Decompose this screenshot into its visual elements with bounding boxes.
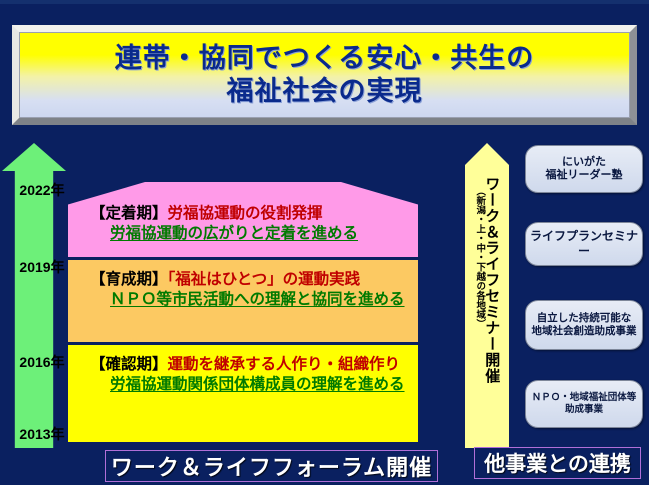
stage-headline-row-ikuseiki: 【育成期】「福祉はひとつ」の運動実践 <box>68 270 418 290</box>
stage-phase-label-kakuninki: 【確認期】 <box>90 356 168 373</box>
stage-headline-ikuseiki: 「福祉はひとつ」の運動実践 <box>168 271 361 288</box>
timeline-year-2022: 2022年 <box>14 180 70 200</box>
program-box-2-line-1: ライフプランセミナー <box>526 229 642 258</box>
stage-detail-teichakuki: 労福協運動の広がりと定着を進める <box>110 225 358 242</box>
title-panel: 連帯・協同でつくる安心・共生の 福祉社会の実現 <box>19 32 630 118</box>
program-box-niigata-fukushi-leader[interactable]: にいがた 福祉リーダー塾 <box>525 145 643 193</box>
timeline-year-2016: 2016年 <box>14 352 70 372</box>
slide-canvas: 連帯・協同でつくる安心・共生の 福祉社会の実現 2022年 2019年 2016… <box>0 0 649 485</box>
top-edge-bar <box>0 0 649 4</box>
stage-detail-kakuninki: 労福協運動関係団体構成員の理解を進める <box>110 376 405 393</box>
page-title: 連帯・協同でつくる安心・共生の 福祉社会の実現 <box>115 42 534 108</box>
stage-detail-row-ikuseiki: ＮＰＯ等市民活動への理解と協同を進める <box>68 290 418 310</box>
timeline-year-2019: 2019年 <box>14 257 70 277</box>
stage-band-text-ikuseiki: 【育成期】「福祉はひとつ」の運動実践 ＮＰＯ等市民活動への理解と協同を進める <box>68 260 418 310</box>
program-box-4-line-1: ＮＰＯ・地域福祉団体等 <box>532 392 637 404</box>
program-box-4-text: ＮＰＯ・地域福祉団体等 助成事業 <box>532 392 637 415</box>
stage-band-text-kakuninki: 【確認期】運動を継承する人作り・組織作り 労福協運動関係団体構成員の理解を進める <box>68 345 418 395</box>
stage-band-teichakuki: 【定着期】労福協運動の役割発揮 労福協運動の広がりと定着を進める <box>68 182 418 257</box>
stage-detail-ikuseiki: ＮＰＯ等市民活動への理解と協同を進める <box>110 291 405 308</box>
stage-detail-row-kakuninki: 労福協運動関係団体構成員の理解を進める <box>68 375 418 395</box>
stage-phase-label-ikuseiki: 【育成期】 <box>90 271 168 288</box>
program-box-3-line-2: 地域社会創造助成事業 <box>532 325 637 338</box>
program-box-sustainable-community[interactable]: 自立した持続可能な 地域社会創造助成事業 <box>525 300 643 350</box>
caption-work-life-forum: ワーク＆ライフフォーラム開催 <box>105 450 438 482</box>
program-box-1-line-1: にいがた <box>546 156 623 169</box>
program-box-3-text: 自立した持続可能な 地域社会創造助成事業 <box>532 312 637 338</box>
stage-band-ikuseiki: 【育成期】「福祉はひとつ」の運動実践 ＮＰＯ等市民活動への理解と協同を進める <box>68 260 418 342</box>
caption-other-projects: 他事業との連携 <box>474 447 641 479</box>
program-box-3-line-1: 自立した持続可能な <box>532 312 637 325</box>
seminar-arrow-main-label: ワーク＆ライフセミナー開催 <box>484 176 499 384</box>
program-box-2-text: ライフプランセミナー <box>526 229 642 258</box>
program-box-1-text: にいがた 福祉リーダー塾 <box>546 156 623 183</box>
stage-headline-row-kakuninki: 【確認期】運動を継承する人作り・組織作り <box>68 355 418 375</box>
program-box-npo-grant[interactable]: ＮＰＯ・地域福祉団体等 助成事業 <box>525 380 643 428</box>
stage-band-kakuninki: 【確認期】運動を継承する人作り・組織作り 労福協運動関係団体構成員の理解を進める <box>68 345 418 442</box>
title-line-2: 福祉社会の実現 <box>115 75 534 108</box>
timeline-year-2013: 2013年 <box>14 424 70 444</box>
title-line-1: 連帯・協同でつくる安心・共生の <box>115 42 534 75</box>
stage-detail-row-teichakuki: 労福協運動の広がりと定着を進める <box>68 224 418 244</box>
stage-phase-label-teichakuki: 【定着期】 <box>90 205 168 222</box>
stage-headline-teichakuki: 労福協運動の役割発揮 <box>168 205 323 222</box>
stage-band-text-teichakuki: 【定着期】労福協運動の役割発揮 労福協運動の広がりと定着を進める <box>68 182 418 244</box>
stage-headline-kakuninki: 運動を継承する人作り・組織作り <box>168 356 401 373</box>
seminar-arrow-text: ワーク＆ライフセミナー開催 （新潟・上・中・下越の各地域） <box>465 176 509 436</box>
stage-headline-row-teichakuki: 【定着期】労福協運動の役割発揮 <box>68 204 418 224</box>
program-box-life-plan-seminar[interactable]: ライフプランセミナー <box>525 222 643 266</box>
program-box-4-line-2: 助成事業 <box>532 404 637 416</box>
program-box-1-line-2: 福祉リーダー塾 <box>546 169 623 182</box>
